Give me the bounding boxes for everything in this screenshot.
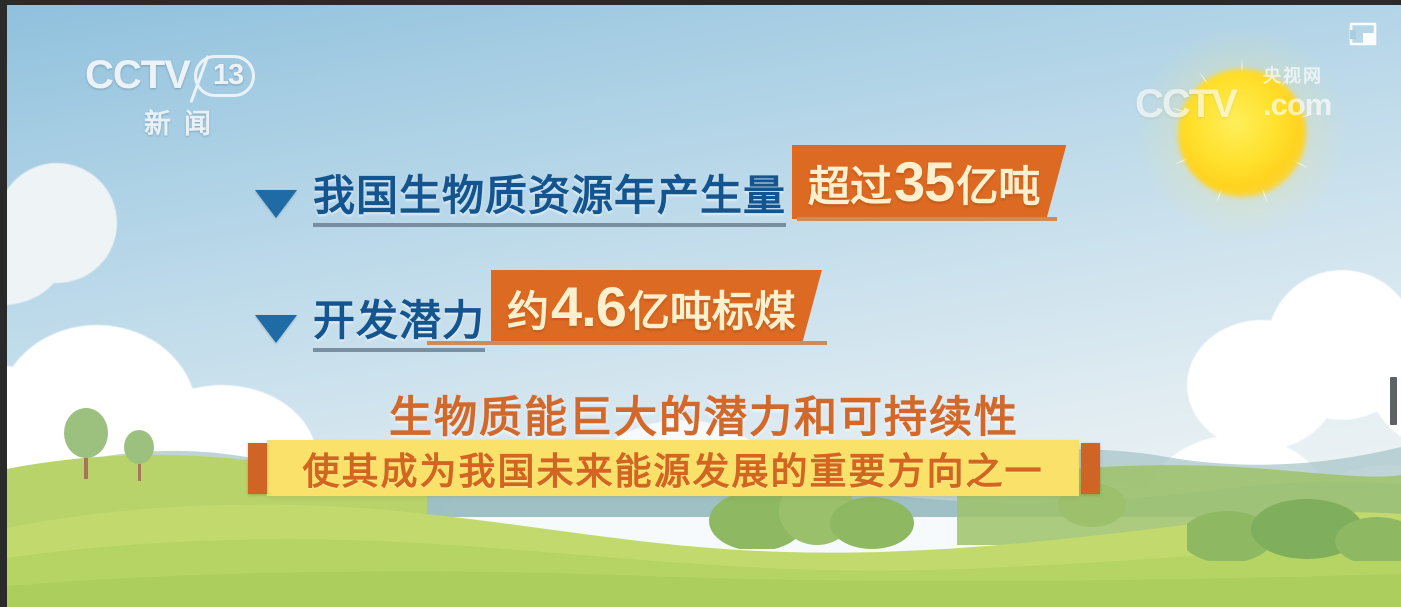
banner-cap-left bbox=[248, 443, 267, 494]
infographic-content: 我国生物质资源年产生量 超过35亿吨 开发潜力 约4.6亿吨标煤 bbox=[7, 5, 1401, 607]
stat-row-1: 我国生物质资源年产生量 超过35亿吨 bbox=[255, 145, 1066, 227]
banner-text: 使其成为我国未来能源发展的重要方向之一 bbox=[267, 440, 1079, 496]
triangle-down-icon bbox=[255, 315, 297, 343]
badge-suffix-1: 亿吨 bbox=[956, 165, 1040, 210]
stat-label-2-text: 开发潜力 bbox=[313, 297, 485, 344]
video-frame: CCTV 13 新闻 CCTV 央视网 .com bbox=[0, 0, 1401, 607]
badge-prefix-2: 约 bbox=[507, 290, 549, 335]
stat-underline-1 bbox=[313, 223, 786, 227]
highlight-banner: 使其成为我国未来能源发展的重要方向之一 bbox=[243, 440, 1103, 496]
badge-prefix-1: 超过 bbox=[808, 165, 892, 210]
headline-text: 生物质能巨大的潜力和可持续性 bbox=[7, 383, 1401, 445]
stat-underline-2 bbox=[313, 348, 485, 352]
stat-badge-2: 约4.6亿吨标煤 bbox=[491, 270, 822, 344]
stat-badge-1: 超过35亿吨 bbox=[792, 145, 1066, 219]
badge-value-1: 35 bbox=[892, 152, 956, 211]
badge-value-2: 4.6 bbox=[549, 277, 628, 336]
triangle-down-icon bbox=[255, 190, 297, 218]
badge-suffix-2: 亿吨标煤 bbox=[628, 290, 796, 335]
stat-label-1-text: 我国生物质资源年产生量 bbox=[313, 172, 786, 219]
badge-underline-2 bbox=[427, 341, 827, 345]
stat-label-1: 我国生物质资源年产生量 bbox=[313, 175, 786, 227]
badge-underline-1 bbox=[797, 217, 1057, 221]
stat-row-2: 开发潜力 约4.6亿吨标煤 bbox=[255, 270, 822, 352]
sky-background: CCTV 13 新闻 CCTV 央视网 .com bbox=[7, 5, 1401, 607]
banner-cap-right bbox=[1081, 443, 1100, 494]
